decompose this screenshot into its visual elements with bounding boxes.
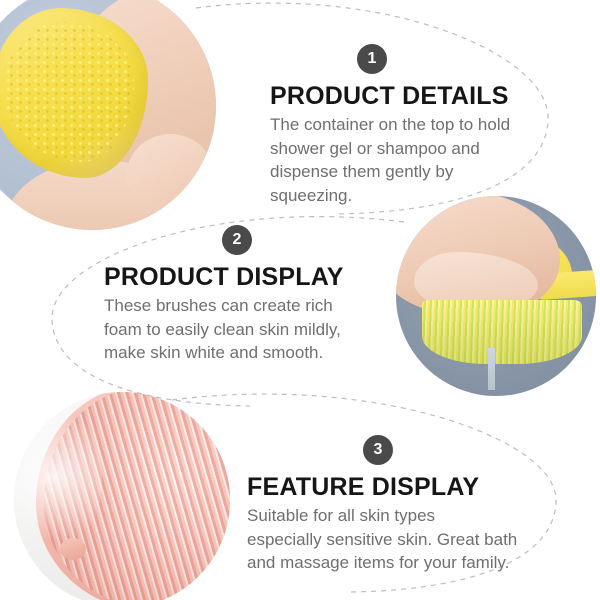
heading-product-details: PRODUCT DETAILS <box>270 82 510 111</box>
badge-number-1: 1 <box>357 44 387 74</box>
brush-bristles <box>422 300 582 364</box>
section-feature-display: 3 FEATURE DISPLAY Suitable for all skin … <box>247 435 517 575</box>
product-infographic: 1 PRODUCT DETAILS The container on the t… <box>0 0 600 600</box>
heading-feature-display: FEATURE DISPLAY <box>247 473 517 502</box>
thumb-shape <box>126 134 212 208</box>
section-product-details: 1 PRODUCT DETAILS The container on the t… <box>270 44 510 207</box>
section-product-display: 2 PRODUCT DISPLAY These brushes can crea… <box>104 225 344 365</box>
body-feature-display: Suitable for all skin types especially s… <box>247 504 517 575</box>
heading-product-display: PRODUCT DISPLAY <box>104 263 344 292</box>
brush-nubs-shadow <box>4 22 134 162</box>
badge-number-3: 3 <box>363 435 393 465</box>
body-product-display: These brushes can create rich foam to ea… <box>104 294 344 365</box>
photo-yellow-bristle-brush-in-hand <box>396 196 596 396</box>
body-product-details: The container on the top to hold shower … <box>270 113 510 207</box>
yellow-brush-body <box>0 8 148 178</box>
badge-number-2: 2 <box>222 225 252 255</box>
background-stem <box>488 348 495 390</box>
photo-yellow-squeeze-brush-in-hand <box>0 0 216 230</box>
photo-pink-silicone-bristles-closeup <box>14 392 230 600</box>
